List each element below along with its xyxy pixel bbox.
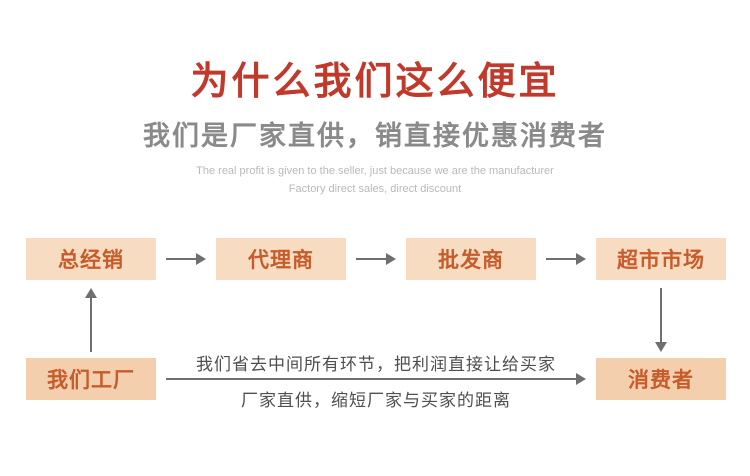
arrow-head	[655, 342, 667, 352]
caption-line1: 我们省去中间所有环节，把利润直接让给买家	[166, 350, 586, 375]
arrow-head	[85, 288, 97, 298]
arrow-head	[196, 253, 206, 265]
arrow-head	[386, 253, 396, 265]
page-title: 为什么我们这么便宜	[0, 62, 750, 104]
arrow-line	[90, 296, 92, 352]
node-wholesaler: 批发商	[406, 238, 536, 280]
node-consumer: 消费者	[596, 358, 726, 400]
node-general-distributor: 总经销	[26, 238, 156, 280]
arrow-right-icon-1	[166, 253, 206, 265]
arrow-line	[660, 288, 662, 344]
page-subtitle: 我们是厂家直供，销直接优惠消费者	[0, 120, 750, 152]
arrow-line	[356, 258, 386, 260]
english-tagline: The real profit is given to the seller, …	[0, 163, 750, 198]
arrow-right-icon-2	[356, 253, 396, 265]
arrow-right-icon-3	[546, 253, 586, 265]
arrow-head	[576, 253, 586, 265]
arrow-line	[166, 258, 196, 260]
arrow-up-icon	[85, 288, 97, 352]
node-factory: 我们工厂	[26, 358, 156, 400]
caption-line2: 厂家直供，缩短厂家与买家的距离	[166, 386, 586, 411]
arrow-line	[546, 258, 576, 260]
node-agent: 代理商	[216, 238, 346, 280]
poster-canvas: 为什么我们这么便宜 我们是厂家直供，销直接优惠消费者 The real prof…	[0, 0, 750, 476]
arrow-down-icon	[655, 288, 667, 352]
arrow-line	[166, 378, 576, 380]
english-tagline-line1: The real profit is given to the seller, …	[0, 163, 750, 181]
node-supermarket: 超市市场	[596, 238, 726, 280]
english-tagline-line2: Factory direct sales, direct discount	[0, 181, 750, 199]
